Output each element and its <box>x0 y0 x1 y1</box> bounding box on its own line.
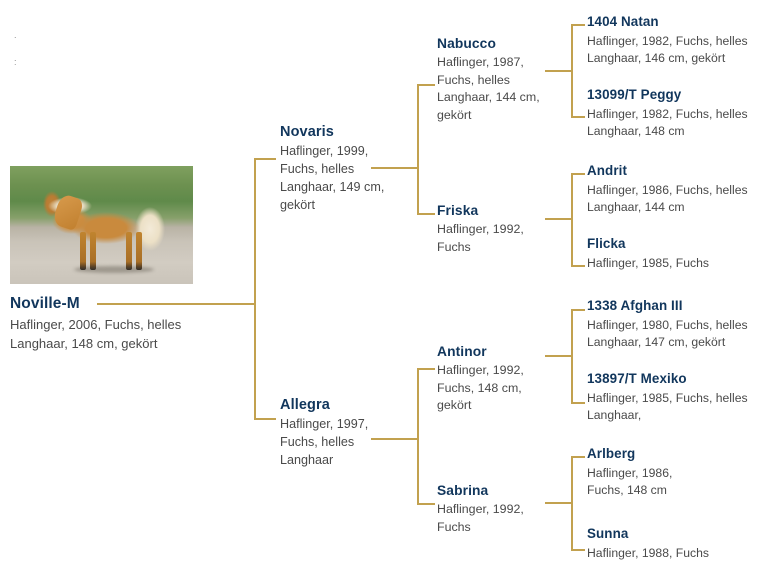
connector-root-bracket <box>254 158 256 419</box>
artifact-mark-1: . <box>14 31 17 40</box>
connector-to-sabrina <box>417 503 435 505</box>
node-nabucco[interactable]: Nabucco Haflinger, 1987, Fuchs, helles L… <box>437 35 542 125</box>
node-novaris[interactable]: Novaris Haflinger, 1999, Fuchs, helles L… <box>280 123 388 215</box>
connector-allegra-bracket <box>417 368 419 503</box>
node-details: Haflinger, 1992, Fuchs <box>437 501 542 536</box>
node-name: Allegra <box>280 396 388 414</box>
node-details: Haflinger, 1992, Fuchs, 148 cm, gekört <box>437 362 542 415</box>
node-name: 13099/T Peggy <box>587 87 763 104</box>
node-details: Haflinger, 1987, Fuchs, helles Langhaar,… <box>437 54 542 124</box>
connector-to-mexiko <box>571 402 585 404</box>
node-name: Flicka <box>587 236 763 253</box>
connector-antinor-bracket <box>571 309 573 403</box>
connector-friska-bracket <box>571 173 573 266</box>
node-subject-noville-m[interactable]: Noville-M Haflinger, 2006, Fuchs, helles… <box>10 294 240 353</box>
node-antinor[interactable]: Antinor Haflinger, 1992, Fuchs, 148 cm, … <box>437 343 542 415</box>
connector-to-peggy <box>571 116 585 118</box>
connector-to-novaris <box>254 158 276 160</box>
node-name: Friska <box>437 202 542 219</box>
connector-nabucco-stem <box>545 70 573 72</box>
connector-to-friska <box>417 213 435 215</box>
pedigree-chart: . : Novill <box>0 0 766 574</box>
node-sabrina[interactable]: Sabrina Haflinger, 1992, Fuchs <box>437 482 542 536</box>
node-details: Haflinger, 2006, Fuchs, helles Langhaar,… <box>10 316 200 353</box>
node-name: 1338 Afghan III <box>587 298 763 315</box>
node-name: 13897/T Mexiko <box>587 371 763 388</box>
node-friska[interactable]: Friska Haflinger, 1992, Fuchs <box>437 202 542 256</box>
connector-nabucco-bracket <box>571 24 573 117</box>
node-name: Novaris <box>280 123 388 141</box>
connector-sabrina-bracket <box>571 456 573 550</box>
node-details: Haflinger, 1999, Fuchs, helles Langhaar,… <box>280 143 388 215</box>
node-details: Haflinger, 1980, Fuchs, helles Langhaar,… <box>587 317 763 352</box>
node-arlberg[interactable]: Arlberg Haflinger, 1986, Fuchs, 148 cm <box>587 446 763 499</box>
connector-to-afghan <box>571 309 585 311</box>
node-details: Haflinger, 1997, Fuchs, helles Langhaar <box>280 416 388 470</box>
node-details: Haflinger, 1986, Fuchs, 148 cm <box>587 465 697 500</box>
node-name: Andrit <box>587 163 763 180</box>
connector-to-andrit <box>571 173 585 175</box>
node-name: Arlberg <box>587 446 763 463</box>
connector-to-arlberg <box>571 456 585 458</box>
connector-to-flicka <box>571 265 585 267</box>
photo-detail-leg <box>90 232 96 270</box>
photo-detail-neck <box>52 193 85 231</box>
node-andrit[interactable]: Andrit Haflinger, 1986, Fuchs, helles La… <box>587 163 763 216</box>
connector-to-antinor <box>417 368 435 370</box>
node-1404-natan[interactable]: 1404 Natan Haflinger, 1982, Fuchs, helle… <box>587 14 763 67</box>
connector-friska-stem <box>545 218 573 220</box>
node-details: Haflinger, 1982, Fuchs, helles Langhaar,… <box>587 33 763 68</box>
connector-to-nabucco <box>417 84 435 86</box>
connector-antinor-stem <box>545 355 573 357</box>
photo-detail-leg <box>80 232 86 270</box>
connector-novaris-bracket <box>417 84 419 214</box>
photo-detail-leg <box>136 232 142 270</box>
node-13099t-peggy[interactable]: 13099/T Peggy Haflinger, 1982, Fuchs, he… <box>587 87 763 140</box>
connector-to-allegra <box>254 418 276 420</box>
node-name: Nabucco <box>437 35 542 52</box>
horse-photo-icon <box>10 166 193 284</box>
connector-sabrina-stem <box>545 502 573 504</box>
node-details: Haflinger, 1982, Fuchs, helles Langhaar,… <box>587 106 763 141</box>
node-flicka[interactable]: Flicka Haflinger, 1985, Fuchs <box>587 236 763 272</box>
node-name: Sunna <box>587 526 763 543</box>
node-name: Noville-M <box>10 294 240 313</box>
node-1338-afghan-iii[interactable]: 1338 Afghan III Haflinger, 1980, Fuchs, … <box>587 298 763 351</box>
connector-to-sunna <box>571 549 585 551</box>
node-details: Haflinger, 1986, Fuchs, helles Langhaar,… <box>587 182 763 217</box>
node-allegra[interactable]: Allegra Haflinger, 1997, Fuchs, helles L… <box>280 396 388 470</box>
node-name: 1404 Natan <box>587 14 763 31</box>
node-details: Haflinger, 1992, Fuchs <box>437 221 542 256</box>
connector-to-natan <box>571 24 585 26</box>
artifact-mark-2: : <box>14 58 17 67</box>
subject-photo <box>10 166 193 284</box>
node-name: Sabrina <box>437 482 542 499</box>
node-sunna[interactable]: Sunna Haflinger, 1988, Fuchs <box>587 526 763 562</box>
node-name: Antinor <box>437 343 542 360</box>
node-13897t-mexiko[interactable]: 13897/T Mexiko Haflinger, 1985, Fuchs, h… <box>587 371 763 424</box>
photo-detail-leg <box>126 232 132 270</box>
node-details: Haflinger, 1985, Fuchs, helles Langhaar, <box>587 390 763 425</box>
node-details: Haflinger, 1988, Fuchs <box>587 545 763 562</box>
node-details: Haflinger, 1985, Fuchs <box>587 255 763 272</box>
photo-detail-shadow <box>74 266 154 273</box>
